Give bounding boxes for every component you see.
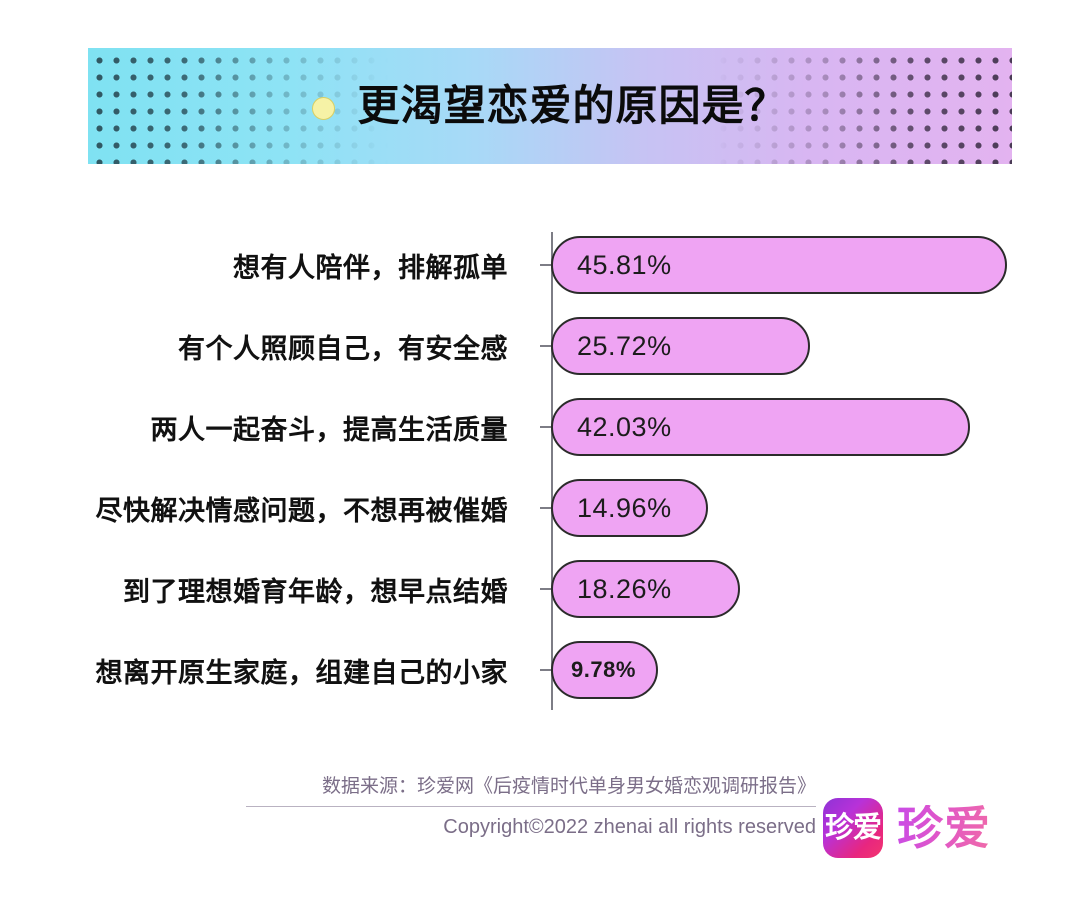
chart-row: 尽快解决情感问题，不想再被催婚 14.96% bbox=[0, 479, 1080, 537]
brand-logo-text: 珍爱 bbox=[897, 805, 991, 851]
axis-tick bbox=[540, 264, 551, 266]
header-banner: 更渴望恋爱的原因是？ bbox=[88, 48, 1012, 164]
bar-category-label: 到了理想婚育年龄，想早点结婚 bbox=[123, 560, 529, 618]
bar[interactable]: 42.03% bbox=[551, 398, 970, 456]
bar-value-label: 18.26% bbox=[553, 574, 672, 605]
bar[interactable]: 9.78% bbox=[551, 641, 658, 699]
bar[interactable]: 18.26% bbox=[551, 560, 740, 618]
bar-category-label: 尽快解决情感问题，不想再被催婚 bbox=[96, 479, 530, 537]
infographic-page: 更渴望恋爱的原因是？ 想有人陪伴，排解孤单 45.81% 有个人照顾自己，有安全… bbox=[0, 0, 1080, 898]
axis-tick bbox=[540, 426, 551, 428]
bar-value-label: 9.78% bbox=[553, 657, 636, 683]
axis-tick bbox=[540, 507, 551, 509]
copyright-text: Copyright©2022 zhenai all rights reserve… bbox=[246, 811, 816, 843]
bar-category-label: 有个人照顾自己，有安全感 bbox=[178, 317, 529, 375]
chart-row: 想离开原生家庭，组建自己的小家 9.78% bbox=[0, 641, 1080, 699]
circle-bullet-icon bbox=[312, 97, 335, 120]
chart-axis-line bbox=[551, 232, 553, 710]
chart-row: 想有人陪伴，排解孤单 45.81% bbox=[0, 236, 1080, 294]
axis-tick bbox=[540, 588, 551, 590]
chart-row: 到了理想婚育年龄，想早点结婚 18.26% bbox=[0, 560, 1080, 618]
footer-text-block: 数据来源：珍爱网《后疫情时代单身男女婚恋观调研报告》 Copyright©202… bbox=[246, 770, 816, 843]
axis-tick bbox=[540, 669, 551, 671]
footer-divider bbox=[246, 806, 816, 807]
brand-logo: 珍爱 珍爱 bbox=[823, 798, 991, 858]
bar[interactable]: 45.81% bbox=[551, 236, 1007, 294]
bar[interactable]: 25.72% bbox=[551, 317, 810, 375]
data-source-text: 数据来源：珍爱网《后疫情时代单身男女婚恋观调研报告》 bbox=[246, 770, 816, 804]
header-banner-content: 更渴望恋爱的原因是？ bbox=[88, 48, 1012, 164]
axis-tick bbox=[540, 345, 551, 347]
bar-value-label: 42.03% bbox=[553, 412, 672, 443]
bar-value-label: 25.72% bbox=[553, 331, 672, 362]
chart-row: 有个人照顾自己，有安全感 25.72% bbox=[0, 317, 1080, 375]
chart-row: 两人一起奋斗，提高生活质量 42.03% bbox=[0, 398, 1080, 456]
brand-logo-mark-icon: 珍爱 bbox=[823, 798, 883, 858]
bar-category-label: 两人一起奋斗，提高生活质量 bbox=[151, 398, 530, 456]
bar-value-label: 14.96% bbox=[553, 493, 672, 524]
bar-value-label: 45.81% bbox=[553, 250, 672, 281]
bar-category-label: 想有人陪伴，排解孤单 bbox=[233, 236, 529, 294]
bar-category-label: 想离开原生家庭，组建自己的小家 bbox=[96, 641, 530, 699]
page-title: 更渴望恋爱的原因是？ bbox=[357, 85, 787, 127]
bar[interactable]: 14.96% bbox=[551, 479, 708, 537]
horizontal-bar-chart: 想有人陪伴，排解孤单 45.81% 有个人照顾自己，有安全感 25.72% 两人… bbox=[0, 228, 1080, 714]
